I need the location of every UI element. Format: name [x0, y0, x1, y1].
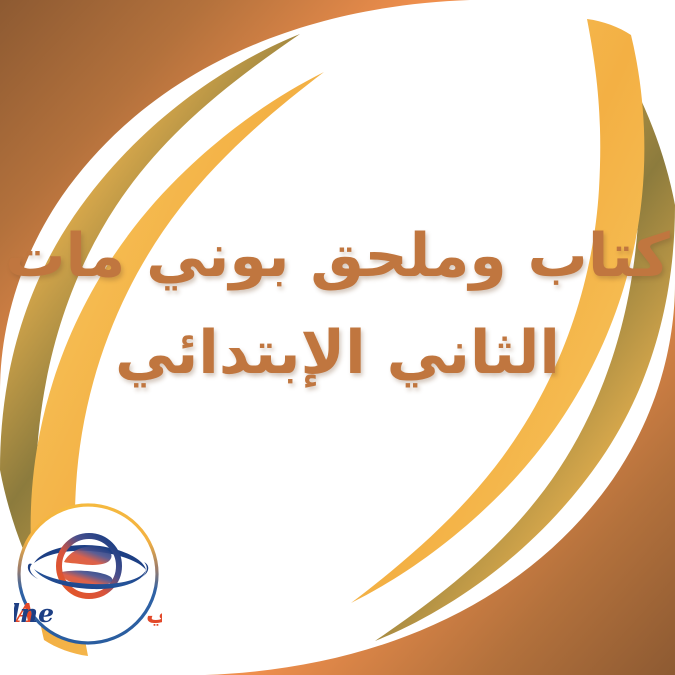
afedne-logo[interactable]: A fedne أفدني [14, 500, 162, 648]
logo-latin-rest: fedne [14, 599, 54, 628]
poster-canvas: كتاب وملحق بوني مات الثاني الإبتدائي [0, 0, 675, 675]
logo-arabic-text: أفدني [146, 596, 162, 626]
